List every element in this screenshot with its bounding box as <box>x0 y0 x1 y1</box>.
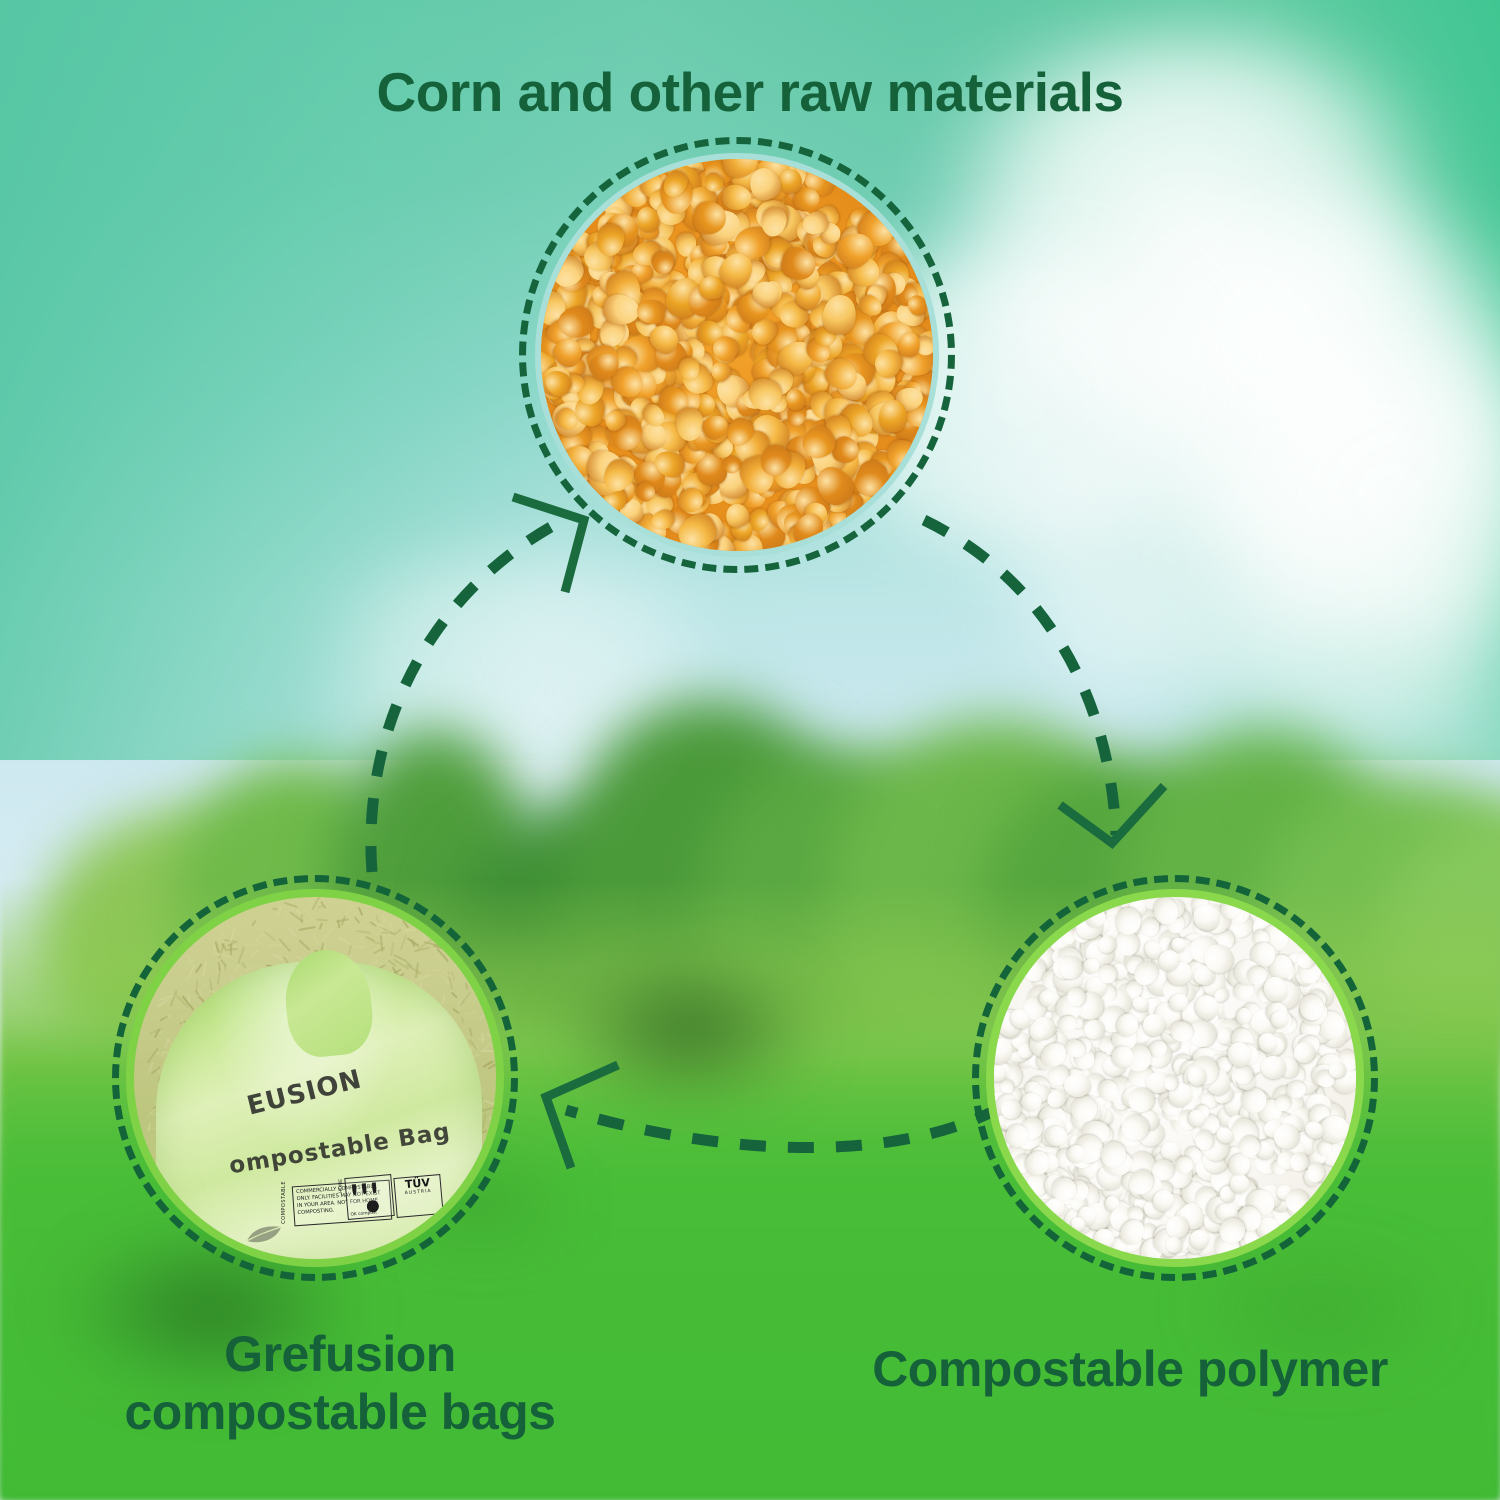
straw-strand <box>495 1087 496 1103</box>
corn-kernel-group <box>541 159 933 551</box>
label-compostable-polymer: Compostable polymer <box>760 1340 1500 1398</box>
straw-strand <box>268 943 282 946</box>
straw-strand <box>469 1028 474 1037</box>
arrow-polymer-to-bags-path <box>566 1108 1000 1148</box>
straw-strand <box>356 930 371 934</box>
label-corn-raw-materials: Corn and other raw materials <box>0 60 1500 124</box>
straw-strand <box>451 991 459 998</box>
straw-strand <box>424 966 430 974</box>
straw-strand <box>305 909 315 924</box>
node-compostable-bags[interactable]: EUSION ompostable Bag COMPOSTABLE COMMER… <box>112 875 518 1281</box>
compostable-bag-photo: EUSION ompostable Bag COMPOSTABLE COMMER… <box>134 897 496 1259</box>
leaf-icon <box>243 1223 285 1245</box>
straw-strand <box>321 927 334 941</box>
straw-strand <box>299 940 311 952</box>
straw-strand <box>218 931 224 938</box>
straw-strand <box>461 1016 464 1023</box>
polymer-pellets-photo <box>994 897 1356 1259</box>
straw-strand <box>251 919 257 926</box>
straw-strand <box>299 926 316 931</box>
straw-strand <box>276 905 283 917</box>
straw-strand <box>488 1116 493 1123</box>
straw-strand <box>316 919 328 922</box>
straw-strand <box>184 978 191 985</box>
node-corn-raw-materials[interactable] <box>519 137 955 573</box>
straw-strand <box>442 995 446 1004</box>
straw-strand <box>147 1047 159 1063</box>
straw-strand <box>381 913 385 922</box>
corn-kernels-photo <box>541 159 933 551</box>
tuv-austria-mark: TÜV AUSTRIA <box>393 1174 443 1218</box>
straw-strand <box>358 906 364 915</box>
straw-strand <box>352 946 365 949</box>
straw-strand <box>157 999 169 1008</box>
straw-strand <box>318 922 323 930</box>
straw-strand <box>479 1106 496 1113</box>
straw-strand <box>159 1015 168 1022</box>
straw-strand <box>451 963 460 968</box>
ok-compost-mark: OK compost <box>344 1174 394 1220</box>
straw-strand <box>410 939 415 947</box>
infographic-canvas: EUSION ompostable Bag COMPOSTABLE COMMER… <box>0 0 1500 1500</box>
straw-strand <box>241 962 247 969</box>
straw-strand <box>433 969 440 972</box>
straw-strand <box>286 926 296 937</box>
straw-strand <box>245 942 263 947</box>
node-compostable-polymer[interactable] <box>972 875 1378 1281</box>
ok-compost-vertical-text: HOME <box>339 1179 344 1193</box>
straw-strand <box>225 947 238 951</box>
pellet-group <box>994 897 1356 1259</box>
straw-strand <box>478 1009 489 1020</box>
straw-strand <box>249 948 258 958</box>
corn-kernel <box>779 169 803 194</box>
straw-strand <box>399 934 407 950</box>
arrow-bags-to-corn-path <box>371 524 556 872</box>
straw-strand <box>213 952 231 959</box>
bag-cert-vertical-text: COMPOSTABLE <box>281 1181 287 1224</box>
straw-strand <box>393 928 402 936</box>
label-bags-line2: compostable bags <box>125 1384 556 1440</box>
straw-strand <box>338 936 353 946</box>
straw-strand <box>404 929 415 932</box>
straw-strand <box>201 977 216 989</box>
corn-kernel <box>888 440 916 469</box>
polymer-pellet <box>1071 1095 1098 1122</box>
straw-strand <box>312 933 320 946</box>
label-compostable-bags: Grefusioncompostable bags <box>20 1325 660 1441</box>
straw-strand <box>345 920 351 927</box>
straw-strand <box>359 935 362 944</box>
label-bags-line1: Grefusion <box>224 1326 456 1382</box>
ok-compost-label: OK compost <box>350 1210 377 1217</box>
straw-strand <box>465 1010 477 1016</box>
straw-strand <box>464 982 468 989</box>
polymer-pellet <box>1039 991 1054 1007</box>
straw-strand <box>401 920 408 928</box>
